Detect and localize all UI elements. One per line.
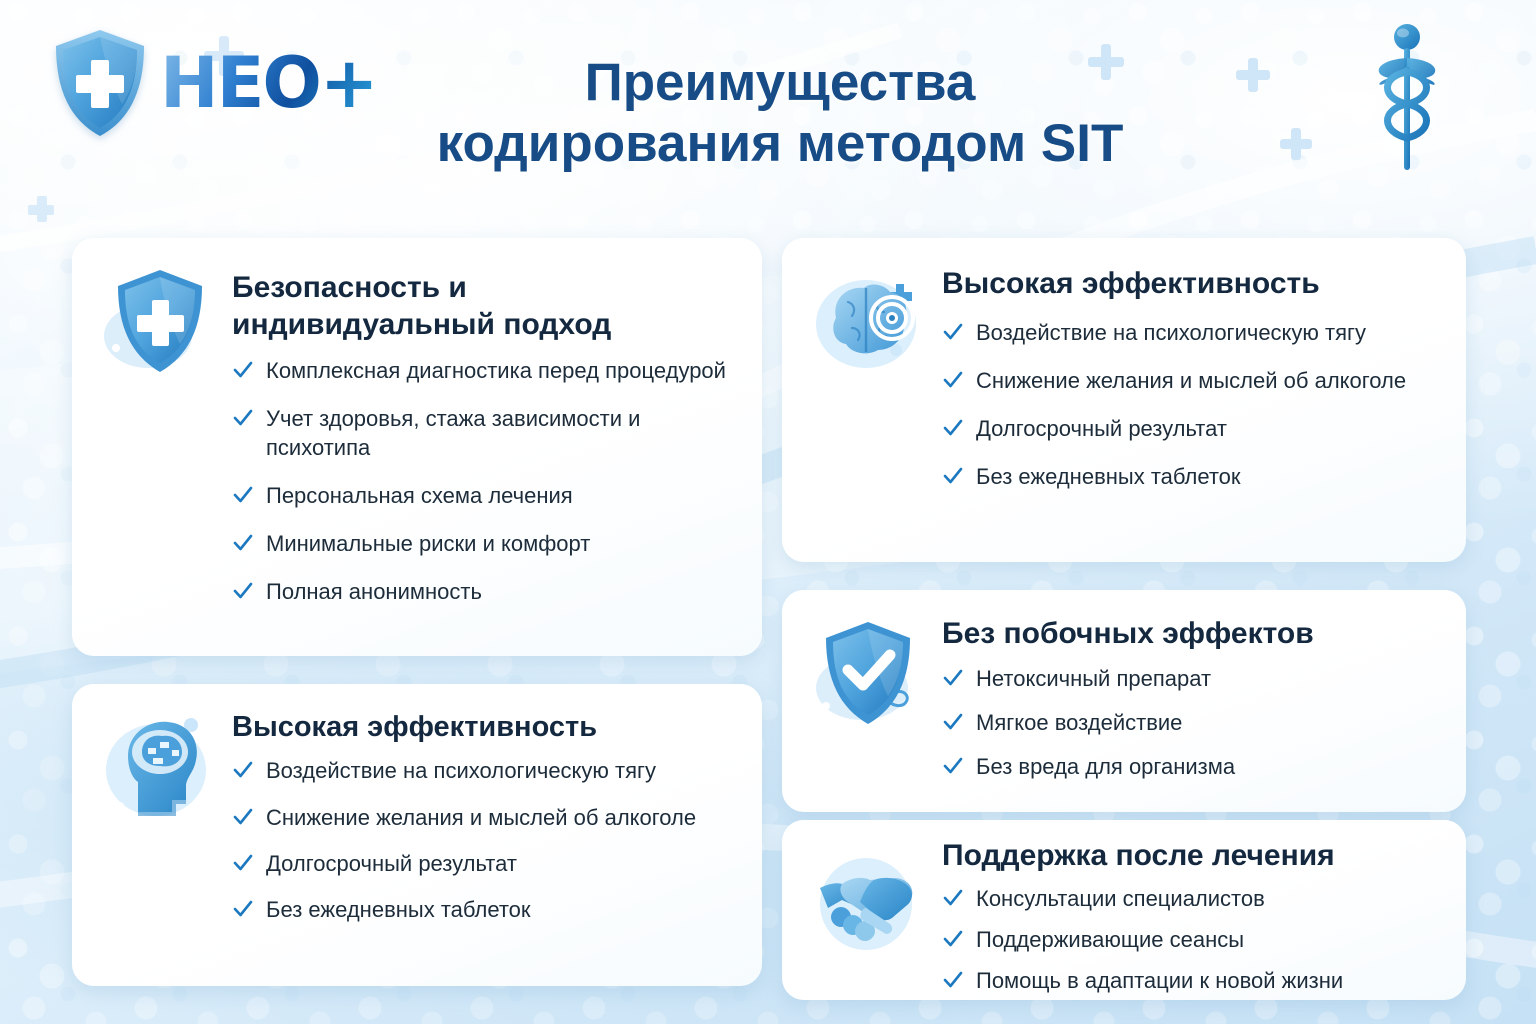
card-title: Безопасность и индивидуальный подход [232, 270, 738, 343]
list-item: Учет здоровья, стажа зависимости и психо… [232, 405, 738, 461]
card-no-side-effects[interactable]: Без побочных эффектов Нетоксичный препар… [782, 590, 1466, 812]
list-item: Поддерживающие сеансы [942, 926, 1452, 954]
caduceus-icon [1366, 20, 1448, 180]
brand-logo[interactable]: НЕО+ [52, 28, 377, 138]
list-item: Воздействие на психологическую тягу [232, 757, 742, 785]
list-item-label: Воздействие на психологическую тягу [266, 758, 656, 783]
list-item-label: Долгосрочный результат [266, 851, 517, 876]
brain-target-icon [808, 262, 928, 382]
list-item: Полная анонимность [232, 578, 738, 606]
list-item-label: Без ежедневных таблеток [266, 897, 531, 922]
card-effectiveness-right[interactable]: Высокая эффективность Воздействие на пси… [782, 238, 1466, 562]
check-icon [232, 852, 254, 874]
card-title: Поддержка после лечения [942, 838, 1452, 875]
list-item-label: Без ежедневных таблеток [976, 464, 1241, 489]
check-icon [942, 465, 964, 487]
infographic-canvas: НЕО+ Преимущества кодирования методом SI… [0, 0, 1536, 1024]
list-item-label: Учет здоровья, стажа зависимости и психо… [266, 406, 640, 459]
list-item-label: Снижение желания и мыслей об алкоголе [266, 805, 696, 830]
feature-list: Комплексная диагностика перед процедурой… [232, 357, 738, 606]
check-icon [232, 359, 254, 381]
list-item-label: Минимальные риски и комфорт [266, 531, 590, 556]
check-icon [232, 759, 254, 781]
list-item: Без ежедневных таблеток [942, 463, 1448, 491]
check-icon [232, 580, 254, 602]
list-item-label: Поддерживающие сеансы [976, 927, 1244, 952]
list-item: Воздействие на психологическую тягу [942, 319, 1448, 347]
list-item: Снижение желания и мыслей об алкоголе [232, 804, 742, 832]
list-item: Снижение желания и мыслей об алкоголе [942, 367, 1448, 395]
list-item: Без вреда для организма [942, 753, 1448, 781]
feature-list: Воздействие на психологическую тягу Сниж… [232, 757, 742, 924]
check-icon [232, 532, 254, 554]
check-icon [232, 407, 254, 429]
list-item: Консультации специалистов [942, 885, 1452, 913]
check-icon [942, 667, 964, 689]
list-item-label: Нетоксичный препарат [976, 666, 1211, 691]
check-icon [232, 484, 254, 506]
check-icon [232, 806, 254, 828]
list-item-label: Полная анонимность [266, 579, 482, 604]
handshake-icon [808, 844, 928, 964]
list-item-label: Снижение желания и мыслей об алкоголе [976, 368, 1406, 393]
card-title: Без побочных эффектов [942, 616, 1448, 653]
list-item: Комплексная диагностика перед процедурой [232, 357, 738, 385]
list-item: Без ежедневных таблеток [232, 896, 742, 924]
list-item: Мягкое воздействие [942, 709, 1448, 737]
check-icon [942, 417, 964, 439]
shield-check-icon [808, 614, 928, 734]
card-title: Высокая эффективность [232, 710, 742, 745]
check-icon [942, 928, 964, 950]
shield-cross-icon [52, 28, 148, 138]
list-item-label: Комплексная диагностика перед процедурой [266, 358, 726, 383]
list-item: Минимальные риски и комфорт [232, 530, 738, 558]
list-item-label: Помощь в адаптации к новой жизни [976, 968, 1343, 993]
shield-cross-icon [98, 262, 218, 382]
check-icon [232, 898, 254, 920]
check-icon [942, 711, 964, 733]
card-title: Высокая эффективность [942, 266, 1448, 303]
list-item-label: Консультации специалистов [976, 886, 1265, 911]
check-icon [942, 321, 964, 343]
feature-list: Нетоксичный препарат Мягкое воздействие … [942, 665, 1448, 781]
list-item-label: Мягкое воздействие [976, 710, 1182, 735]
card-support[interactable]: Поддержка после лечения Консультации спе… [782, 820, 1466, 1000]
page-title-line1: Преимущества [330, 52, 1230, 113]
list-item: Помощь в адаптации к новой жизни [942, 967, 1452, 995]
page-title-line2: кодирования методом SIT [330, 113, 1230, 174]
check-icon [942, 369, 964, 391]
check-icon [942, 755, 964, 777]
list-item-label: Без вреда для организма [976, 754, 1235, 779]
header: НЕО+ Преимущества кодирования методом SI… [0, 0, 1536, 215]
check-icon [942, 887, 964, 909]
list-item: Долгосрочный результат [942, 415, 1448, 443]
check-icon [942, 969, 964, 991]
list-item: Долгосрочный результат [232, 850, 742, 878]
list-item: Нетоксичный препарат [942, 665, 1448, 693]
page-title: Преимущества кодирования методом SIT [330, 52, 1230, 175]
card-effectiveness-left[interactable]: Высокая эффективность Воздействие на пси… [72, 684, 762, 986]
list-item-label: Воздействие на психологическую тягу [976, 320, 1366, 345]
feature-list: Воздействие на психологическую тягу Сниж… [942, 319, 1448, 492]
list-item: Персональная схема лечения [232, 482, 738, 510]
card-safety[interactable]: Безопасность и индивидуальный подход Ком… [72, 238, 762, 656]
head-brain-icon [98, 708, 218, 828]
list-item-label: Долгосрочный результат [976, 416, 1227, 441]
feature-list: Консультации специалистов Поддерживающие… [942, 885, 1452, 995]
list-item-label: Персональная схема лечения [266, 483, 573, 508]
